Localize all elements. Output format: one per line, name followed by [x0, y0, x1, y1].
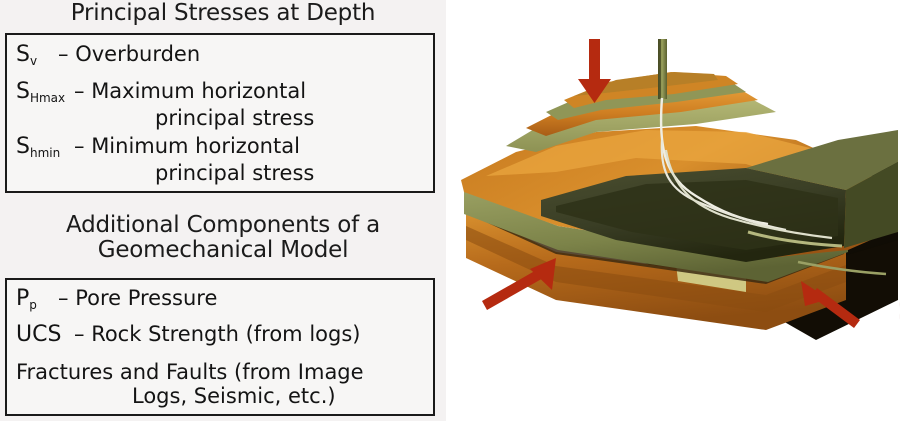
principal-stresses-box: Sv– Overburden SHmax– Maximum horizontal…	[5, 33, 435, 193]
definition-row-fractures: Fractures and Faults (from Image	[16, 362, 364, 383]
symbol-ucs: UCS	[16, 324, 74, 346]
dash-shmax: –	[74, 81, 85, 102]
additional-components-title: Additional Components of a Geomechanical…	[0, 213, 446, 263]
symbol-pp: Pp	[16, 288, 58, 310]
definition-text-shmin-line2: principal stress	[155, 163, 314, 184]
symbol-sv: Sv	[16, 44, 58, 66]
definition-row-shmax: SHmax– Maximum horizontal	[16, 81, 306, 103]
definition-text-shmax: Maximum horizontal	[91, 81, 306, 102]
symbol-shmin: Shmin	[16, 136, 74, 158]
definition-row-pp: Pp– Pore Pressure	[16, 288, 217, 310]
definition-row-sv: Sv– Overburden	[16, 44, 200, 66]
definition-text-sv: Overburden	[75, 44, 200, 65]
dash-pp: –	[58, 288, 69, 309]
additional-components-box: Pp– Pore Pressure UCS– Rock Strength (fr…	[5, 278, 435, 416]
definition-text-ucs: Rock Strength (from logs)	[91, 324, 360, 345]
definition-text-pp: Pore Pressure	[75, 288, 217, 309]
principal-stresses-title: Principal Stresses at Depth	[0, 1, 446, 26]
definition-row-ucs: UCS– Rock Strength (from logs)	[16, 324, 360, 346]
definitions-panel: Principal Stresses at Depth Sv– Overburd…	[0, 0, 446, 421]
well-pipe-shade	[658, 39, 661, 99]
dash-ucs: –	[74, 324, 85, 345]
geomechanical-block-diagram	[446, 0, 900, 421]
dash-sv: –	[58, 44, 69, 65]
figure-root: Principal Stresses at Depth Sv– Overburd…	[0, 0, 900, 421]
additional-components-title-line2: Geomechanical Model	[0, 238, 446, 263]
definition-text-shmax-line2: principal stress	[155, 108, 314, 129]
definition-text-fractures-line2: Logs, Seismic, etc.)	[132, 386, 336, 407]
additional-components-title-line1: Additional Components of a	[0, 213, 446, 238]
definition-text-fractures: Fractures and Faults (from Image	[16, 362, 364, 383]
symbol-shmax: SHmax	[16, 81, 74, 103]
dash-shmin: –	[74, 136, 85, 157]
definition-row-shmin: Shmin– Minimum horizontal	[16, 136, 300, 158]
block-diagram-panel: Sv Shmin SHmax UCS Pp	[446, 0, 900, 421]
definition-text-shmin: Minimum horizontal	[91, 136, 300, 157]
